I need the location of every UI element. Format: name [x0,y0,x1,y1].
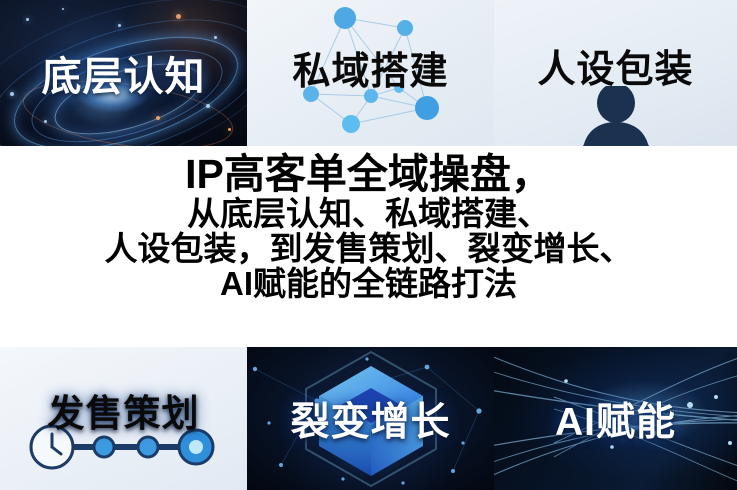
panel-label-launch-planning: 发售策划 [0,383,247,437]
panel-persona-packaging[interactable]: 人设包装 [494,0,737,146]
headline-line-2: 从底层认知、私域搭建、 [187,197,550,231]
panel-label-ai-empowerment: AI赋能 [494,391,737,447]
headline-line-4: AI赋能的全链路打法 [220,267,517,301]
person-silhouette-icon [556,86,676,146]
panel-label-fission-growth: 裂变增长 [247,391,494,447]
panel-fission-growth[interactable]: 裂变增长 [247,347,494,490]
panel-foundation-cognition[interactable]: 底层认知 [0,0,247,146]
panel-label-foundation-cognition: 底层认知 [0,44,247,102]
panel-ai-empowerment[interactable]: AI赋能 [494,347,737,490]
headline-band: IP高客单全域操盘， 从底层认知、私域搭建、 人设包装，到发售策划、裂变增长、 … [0,146,737,347]
star-dot-icon [118,24,121,27]
headline-line-3: 人设包装，到发售策划、裂变增长、 [105,232,633,266]
panel-private-domain-build[interactable]: 私域搭建 [247,0,494,146]
star-dot-icon [62,8,64,10]
star-dot-icon [214,36,217,39]
top-panel-row: 底层认知 [0,0,737,146]
bottom-panel-row: 发售策划 [0,347,737,490]
poster-canvas: 底层认知 [0,0,737,490]
panel-label-persona-packaging: 人设包装 [494,38,737,93]
star-dot-icon [228,128,231,131]
headline-line-1: IP高客单全域操盘， [185,153,552,196]
panel-launch-planning[interactable]: 发售策划 [0,347,247,490]
star-dot-icon [26,18,29,21]
panel-label-private-domain-build: 私域搭建 [247,40,494,95]
star-dot-icon [176,14,181,19]
star-dot-icon [44,120,47,123]
star-dot-icon [206,104,210,108]
star-dot-icon [156,116,160,120]
